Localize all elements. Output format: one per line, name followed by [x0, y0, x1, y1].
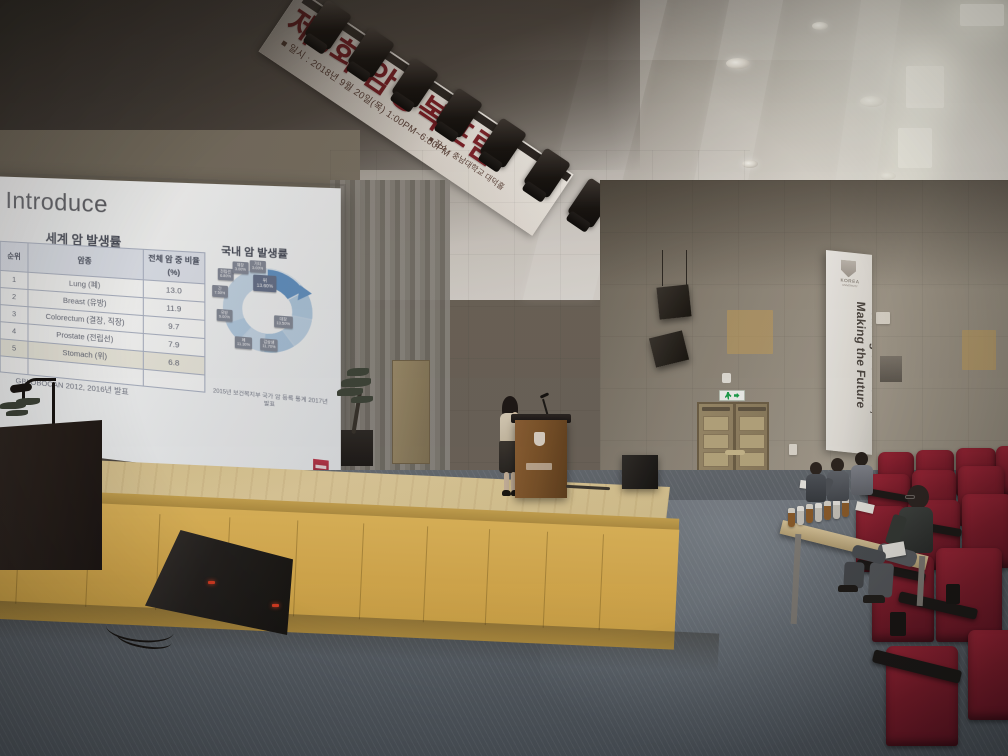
university-crest-icon [841, 260, 856, 279]
line-array-speaker [656, 284, 691, 319]
monitor-power-led [272, 604, 279, 607]
audience-member [805, 462, 833, 516]
auditorium-seat[interactable] [968, 630, 1008, 720]
foreground-plant [0, 398, 56, 428]
cell-rank: 2 [0, 288, 28, 307]
stage-monitor-speaker [622, 455, 658, 489]
beverage-bottle[interactable] [788, 508, 795, 527]
door-handle[interactable] [725, 450, 745, 455]
slogan-text: Leading the World, Making the Future [853, 301, 872, 455]
audience-member [860, 500, 906, 596]
podium-nameplate [526, 463, 552, 470]
audience-head [855, 452, 868, 466]
audience-shoe [838, 585, 858, 592]
audience-torso [806, 474, 826, 502]
wall-speaker [876, 312, 890, 324]
donut-label: 갑상샘11.70% [260, 338, 278, 351]
donut-label-highlight: 위13.60% [253, 275, 276, 293]
slide-title: Introduce [6, 187, 108, 219]
donut-label: 유방9.00% [217, 309, 232, 322]
wall-switch-plate[interactable] [789, 444, 797, 455]
university-slogan-banner: KOREA UNIVERSITY Leading the World, Maki… [826, 250, 872, 455]
wall-accent-panel [727, 310, 773, 354]
donut-label: 기타3.00% [250, 260, 266, 273]
donut-label: 전립선6.80% [218, 268, 233, 281]
wall-shelf [880, 356, 902, 382]
donut-label: 췌장3.00% [233, 261, 249, 274]
donut-chart: 위13.60% 대장13.50% 갑상샘11.70% 폐11.30% 유방9.0… [219, 262, 317, 361]
donut-label: 폐11.30% [235, 336, 252, 349]
audience-shoe [863, 595, 885, 603]
slogan-line-2: Making the Future [853, 301, 868, 455]
eyeglasses-icon [905, 495, 915, 499]
audience-torso [851, 465, 873, 495]
donut-label: 간7.50% [212, 285, 227, 298]
side-door[interactable] [392, 360, 430, 464]
wall-accent-panel [962, 330, 996, 370]
podium-emblem-icon [534, 432, 545, 446]
auditorium-scene: 제3회 암정복포럼 ■ 일시 : 2018년 9월 20일(목) 1:00PM~… [0, 0, 1008, 756]
donut-label: 대장13.50% [274, 315, 292, 328]
emergency-light [722, 373, 731, 383]
monitor-power-led [208, 581, 215, 584]
cell-rank [0, 356, 28, 375]
speaker-rigging-rod [662, 250, 663, 286]
cancer-incidence-table: 순위 암종 전체 암 중 비율(%) 1 Lung (폐) 13.0 2 Bre… [0, 241, 205, 393]
bonsai-tree [337, 360, 377, 468]
col-rank: 순위 [0, 241, 28, 272]
exit-arrow-icon [734, 393, 740, 399]
donut-chart-title: 국내 암 발생률 [221, 242, 288, 261]
exit-sign-icon [719, 390, 745, 401]
donut-chart-source: 2015년 보건복지부 국가 암 등록 통계 2017년 발표 [212, 388, 329, 415]
running-man-icon [725, 392, 732, 400]
col-pct: 전체 암 중 비율(%) [143, 249, 205, 284]
presenter-shoe [502, 490, 511, 496]
microphone-gooseneck [22, 378, 56, 400]
foreground-lectern [0, 420, 102, 570]
presenter-leg [504, 472, 509, 492]
cell-rank: 1 [0, 270, 28, 289]
slogan-line-1: Leading the World, [868, 302, 872, 454]
beverage-bottle[interactable] [797, 506, 804, 525]
